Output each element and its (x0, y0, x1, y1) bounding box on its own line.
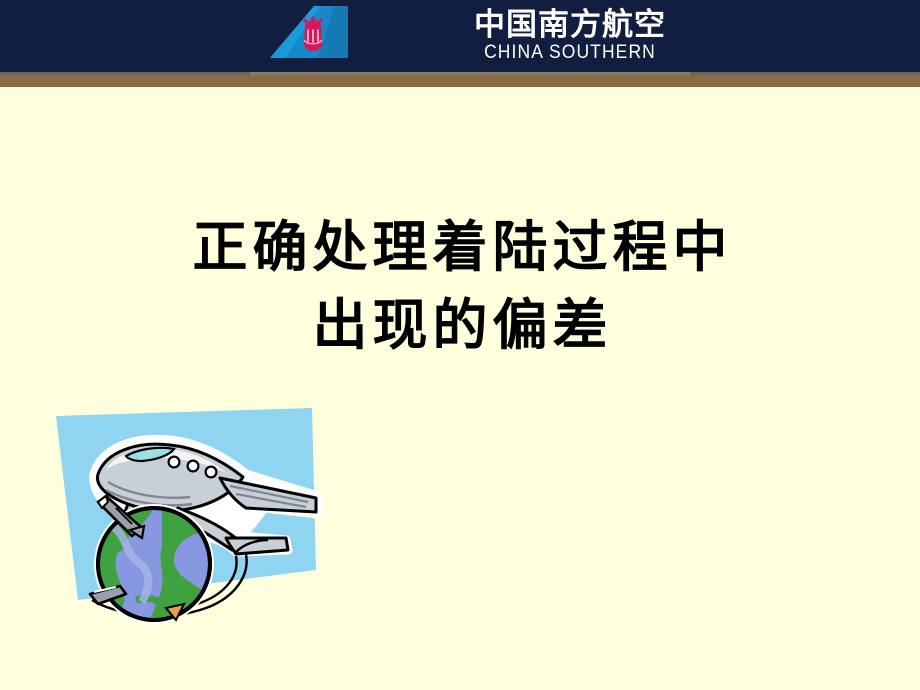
brand-wordmark: 中国南方航空 CHINA SOUTHERN (470, 8, 670, 66)
slide-title: 正确处理着陆过程中 出现的偏差 (0, 208, 920, 364)
china-southern-tailfin-logo (268, 6, 352, 66)
slide-title-line-2: 出现的偏差 (0, 286, 920, 364)
wordmark-english: CHINA SOUTHERN (478, 42, 662, 63)
presentation-slide: 中国南方航空 CHINA SOUTHERN 正确处理着陆过程中 出现的偏差 (0, 0, 920, 690)
slide-title-line-1: 正确处理着陆过程中 (0, 208, 920, 286)
kapok-flower-emblem (303, 16, 322, 51)
wordmark-chinese: 中国南方航空 (470, 8, 670, 42)
header-accent-bar (0, 75, 920, 87)
globe-shape (94, 504, 214, 624)
airplane-over-globe-clipart (50, 404, 342, 644)
header-band (0, 0, 920, 72)
